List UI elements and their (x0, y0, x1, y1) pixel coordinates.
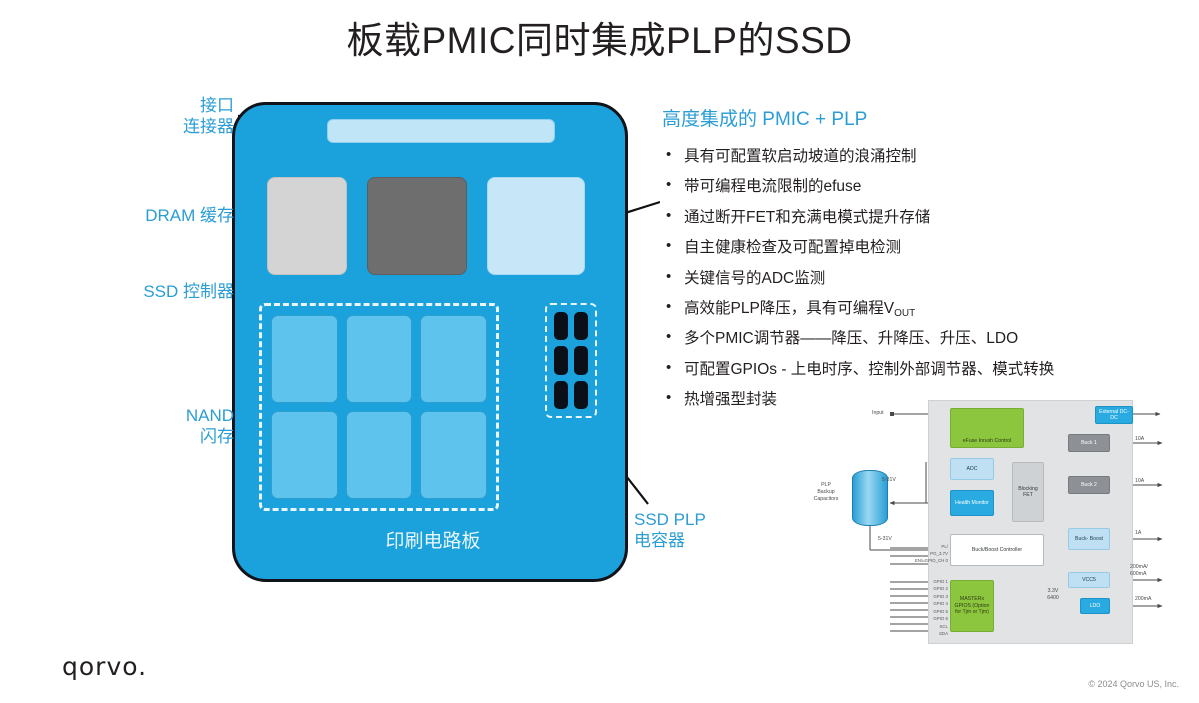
nand-chip (420, 411, 487, 499)
pin-label: PL/ (886, 544, 948, 551)
pin-label: GPIO 2 (886, 585, 948, 592)
nand-chip (271, 411, 338, 499)
block-adc: ADC (950, 458, 994, 480)
feature-bullet: 通过断开FET和充满电模式提升存储 (662, 208, 1132, 227)
feature-bullet: 具有可配置软启动坡道的浪涌控制 (662, 147, 1132, 166)
callout-label-connector: 接口 连接器 (154, 96, 234, 137)
plp-capacitor (574, 346, 588, 374)
qorvo-logo: qorvo. (62, 652, 147, 681)
feature-bullet: 带可编程电流限制的efuse (662, 177, 1132, 196)
pin-label: GPIO 1 (886, 578, 948, 585)
pmic-plp-chip (487, 177, 585, 275)
feature-bullet-subscript: OUT (894, 308, 915, 319)
nand-chip (271, 315, 338, 403)
pin-label: GPIO 4 (886, 600, 948, 607)
plp-capacitor (574, 381, 588, 409)
plp-capacitor (554, 312, 568, 340)
pin-label: GPIO 6 (886, 615, 948, 622)
pcb-board: 印刷电路板 (232, 102, 628, 582)
pin-label: GPIO 3 (886, 593, 948, 600)
pin-label: GPIO 5 (886, 608, 948, 615)
pin-label: PG_3.7V (886, 551, 948, 558)
pcb-caption: 印刷电路板 (235, 526, 631, 553)
label-plp-backup-capacitors: PLP Backup Capacitors (800, 482, 852, 502)
features-heading: 高度集成的 PMIC + PLP (662, 104, 1132, 131)
callout-label-dram: DRAM 缓存 (100, 206, 234, 227)
block-master-gpios: MASTERx GPIOS (Option for Tjm or Tjm) (950, 580, 994, 632)
label-buck1-current: 10A (1135, 436, 1144, 442)
block-buck-1: Buck 1 (1068, 434, 1110, 452)
nand-chip (420, 315, 487, 403)
feature-bullet: 关键信号的ADC监测 (662, 269, 1132, 288)
callout-label-nand: NAND 闪存 (138, 406, 234, 447)
features-panel: 高度集成的 PMIC + PLP 具有可配置软启动坡道的浪涌控制带可编程电流限制… (662, 104, 1132, 420)
block-vcc5: VCC5 (1068, 572, 1110, 588)
block-buck-boost: Buck- Boost (1068, 528, 1110, 550)
callout-label-plp-capacitors: SSD PLP 电容器 (634, 510, 744, 551)
ssd-board-illustration: 印刷电路板 接口 连接器 DRAM 缓存 SSD 控制器 NAND 闪存 SSD… (0, 70, 660, 590)
label-ldo-current: 200mA (1135, 596, 1151, 602)
plp-capacitor (554, 346, 568, 374)
nand-flash-zone (259, 303, 499, 511)
label-buck2-current: 10A (1135, 478, 1144, 484)
label-voltage-rail-1: 5-31V (882, 477, 896, 483)
plp-capacitor (554, 381, 568, 409)
page-title: 板载PMIC同时集成PLP的SSD (0, 10, 1199, 64)
features-list: 具有可配置软启动坡道的浪涌控制带可编程电流限制的efuse通过断开FET和充满电… (662, 147, 1132, 409)
pmic-block-diagram: eFuse Inrush Control ADC Health Monitor … (790, 392, 1190, 654)
feature-bullet: 多个PMIC调节器——降压、升降压、升压、LDO (662, 329, 1132, 348)
block-efuse-inrush-control: eFuse Inrush Control (950, 408, 1024, 448)
block-ldo: LDO (1080, 598, 1110, 614)
nand-chip (346, 315, 413, 403)
block-health-monitor: Health Monitor (950, 490, 994, 516)
label-ldo-rail: 3.3V 6400 (1040, 588, 1066, 602)
dram-cache-chip (267, 177, 347, 275)
pin-labels-group-2: GPIO 1GPIO 2GPIO 3GPIO 4GPIO 5GPIO 6SCLS… (886, 578, 948, 638)
block-external-dc-dc: External DC-DC (1095, 406, 1133, 424)
pin-label: EN/uGPIO_CH 0 (886, 558, 948, 565)
block-buck-boost-controller: Buck/Boost Controller (950, 534, 1044, 566)
plp-capacitor (574, 312, 588, 340)
ssd-controller-chip (367, 177, 467, 275)
copyright-notice: © 2024 Qorvo US, Inc. (1088, 679, 1179, 689)
pin-labels-group-1: PL/PG_3.7VEN/uGPIO_CH 0 (886, 544, 948, 564)
label-buckboost-current: 1A (1135, 530, 1141, 536)
label-vcc5-current: 200mA/ 600mA (1130, 564, 1164, 578)
feature-bullet: 自主健康检查及可配置掉电检测 (662, 238, 1132, 257)
pin-label: SCL (886, 623, 948, 630)
block-blocking-fet: Blocking FET (1012, 462, 1044, 522)
feature-bullet: 可配置GPIOs - 上电时序、控制外部调节器、模式转换 (662, 360, 1132, 379)
block-buck-2: Buck 2 (1068, 476, 1110, 494)
label-input: Input (872, 410, 884, 416)
pin-label: SDA (886, 630, 948, 637)
feature-bullet: 高效能PLP降压，具有可编程VOUT (662, 299, 1132, 318)
nand-chip (346, 411, 413, 499)
callout-label-ssd-controller: SSD 控制器 (94, 282, 234, 303)
label-voltage-rail-2: 5-31V (878, 536, 892, 542)
interface-connector (327, 119, 555, 143)
plp-capacitor-zone (545, 303, 597, 418)
